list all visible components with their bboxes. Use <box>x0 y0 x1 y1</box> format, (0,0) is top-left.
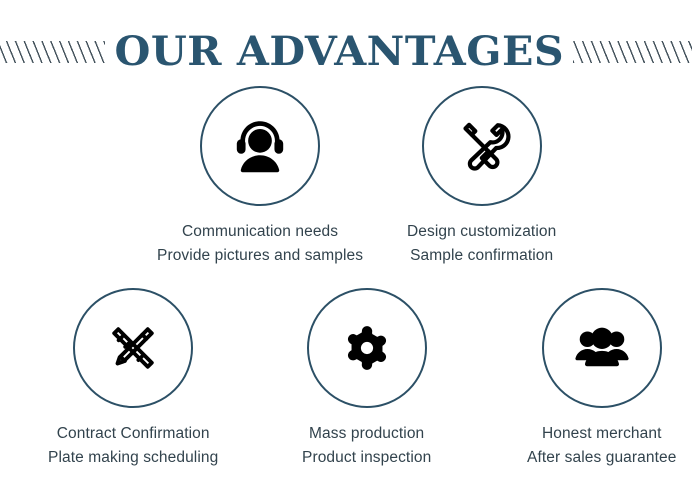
caption-line-1: Honest merchant <box>527 422 676 446</box>
caption-line-2: Sample confirmation <box>407 244 556 268</box>
caption-contract: Contract Confirmation Plate making sched… <box>48 422 218 470</box>
icon-circle-merchant <box>542 288 662 408</box>
page-header: OUR ADVANTAGES <box>0 26 692 78</box>
advantage-card-merchant: Honest merchant After sales guarantee <box>527 288 676 470</box>
headset-support-agent-icon <box>227 113 293 179</box>
caption-merchant: Honest merchant After sales guarantee <box>527 422 676 470</box>
advantage-card-design: Design customization Sample confirmation <box>407 86 556 268</box>
page-title: OUR ADVANTAGES <box>112 30 566 74</box>
caption-line-1: Mass production <box>302 422 431 446</box>
caption-line-1: Communication needs <box>157 220 363 244</box>
advantage-card-production: Mass production Product inspection <box>302 288 431 470</box>
caption-production: Mass production Product inspection <box>302 422 431 470</box>
caption-line-2: Provide pictures and samples <box>157 244 363 268</box>
icon-circle-production <box>307 288 427 408</box>
people-group-icon <box>571 317 633 379</box>
caption-communication: Communication needs Provide pictures and… <box>157 220 363 268</box>
caption-line-2: After sales guarantee <box>527 446 676 470</box>
advantage-card-contract: Contract Confirmation Plate making sched… <box>48 288 218 470</box>
caption-line-1: Design customization <box>407 220 556 244</box>
caption-line-2: Product inspection <box>302 446 431 470</box>
caption-design: Design customization Sample confirmation <box>407 220 556 268</box>
icon-circle-contract <box>73 288 193 408</box>
hatch-decoration-right-icon <box>573 41 692 63</box>
screwdriver-wrench-icon <box>450 114 514 178</box>
caption-line-2: Plate making scheduling <box>48 446 218 470</box>
gear-icon <box>342 323 392 373</box>
icon-circle-communication <box>200 86 320 206</box>
caption-line-1: Contract Confirmation <box>48 422 218 446</box>
icon-circle-design <box>422 86 542 206</box>
advantage-card-communication: Communication needs Provide pictures and… <box>157 86 363 268</box>
hatch-decoration-left-icon <box>0 41 105 63</box>
pencil-ruler-icon <box>102 317 164 379</box>
